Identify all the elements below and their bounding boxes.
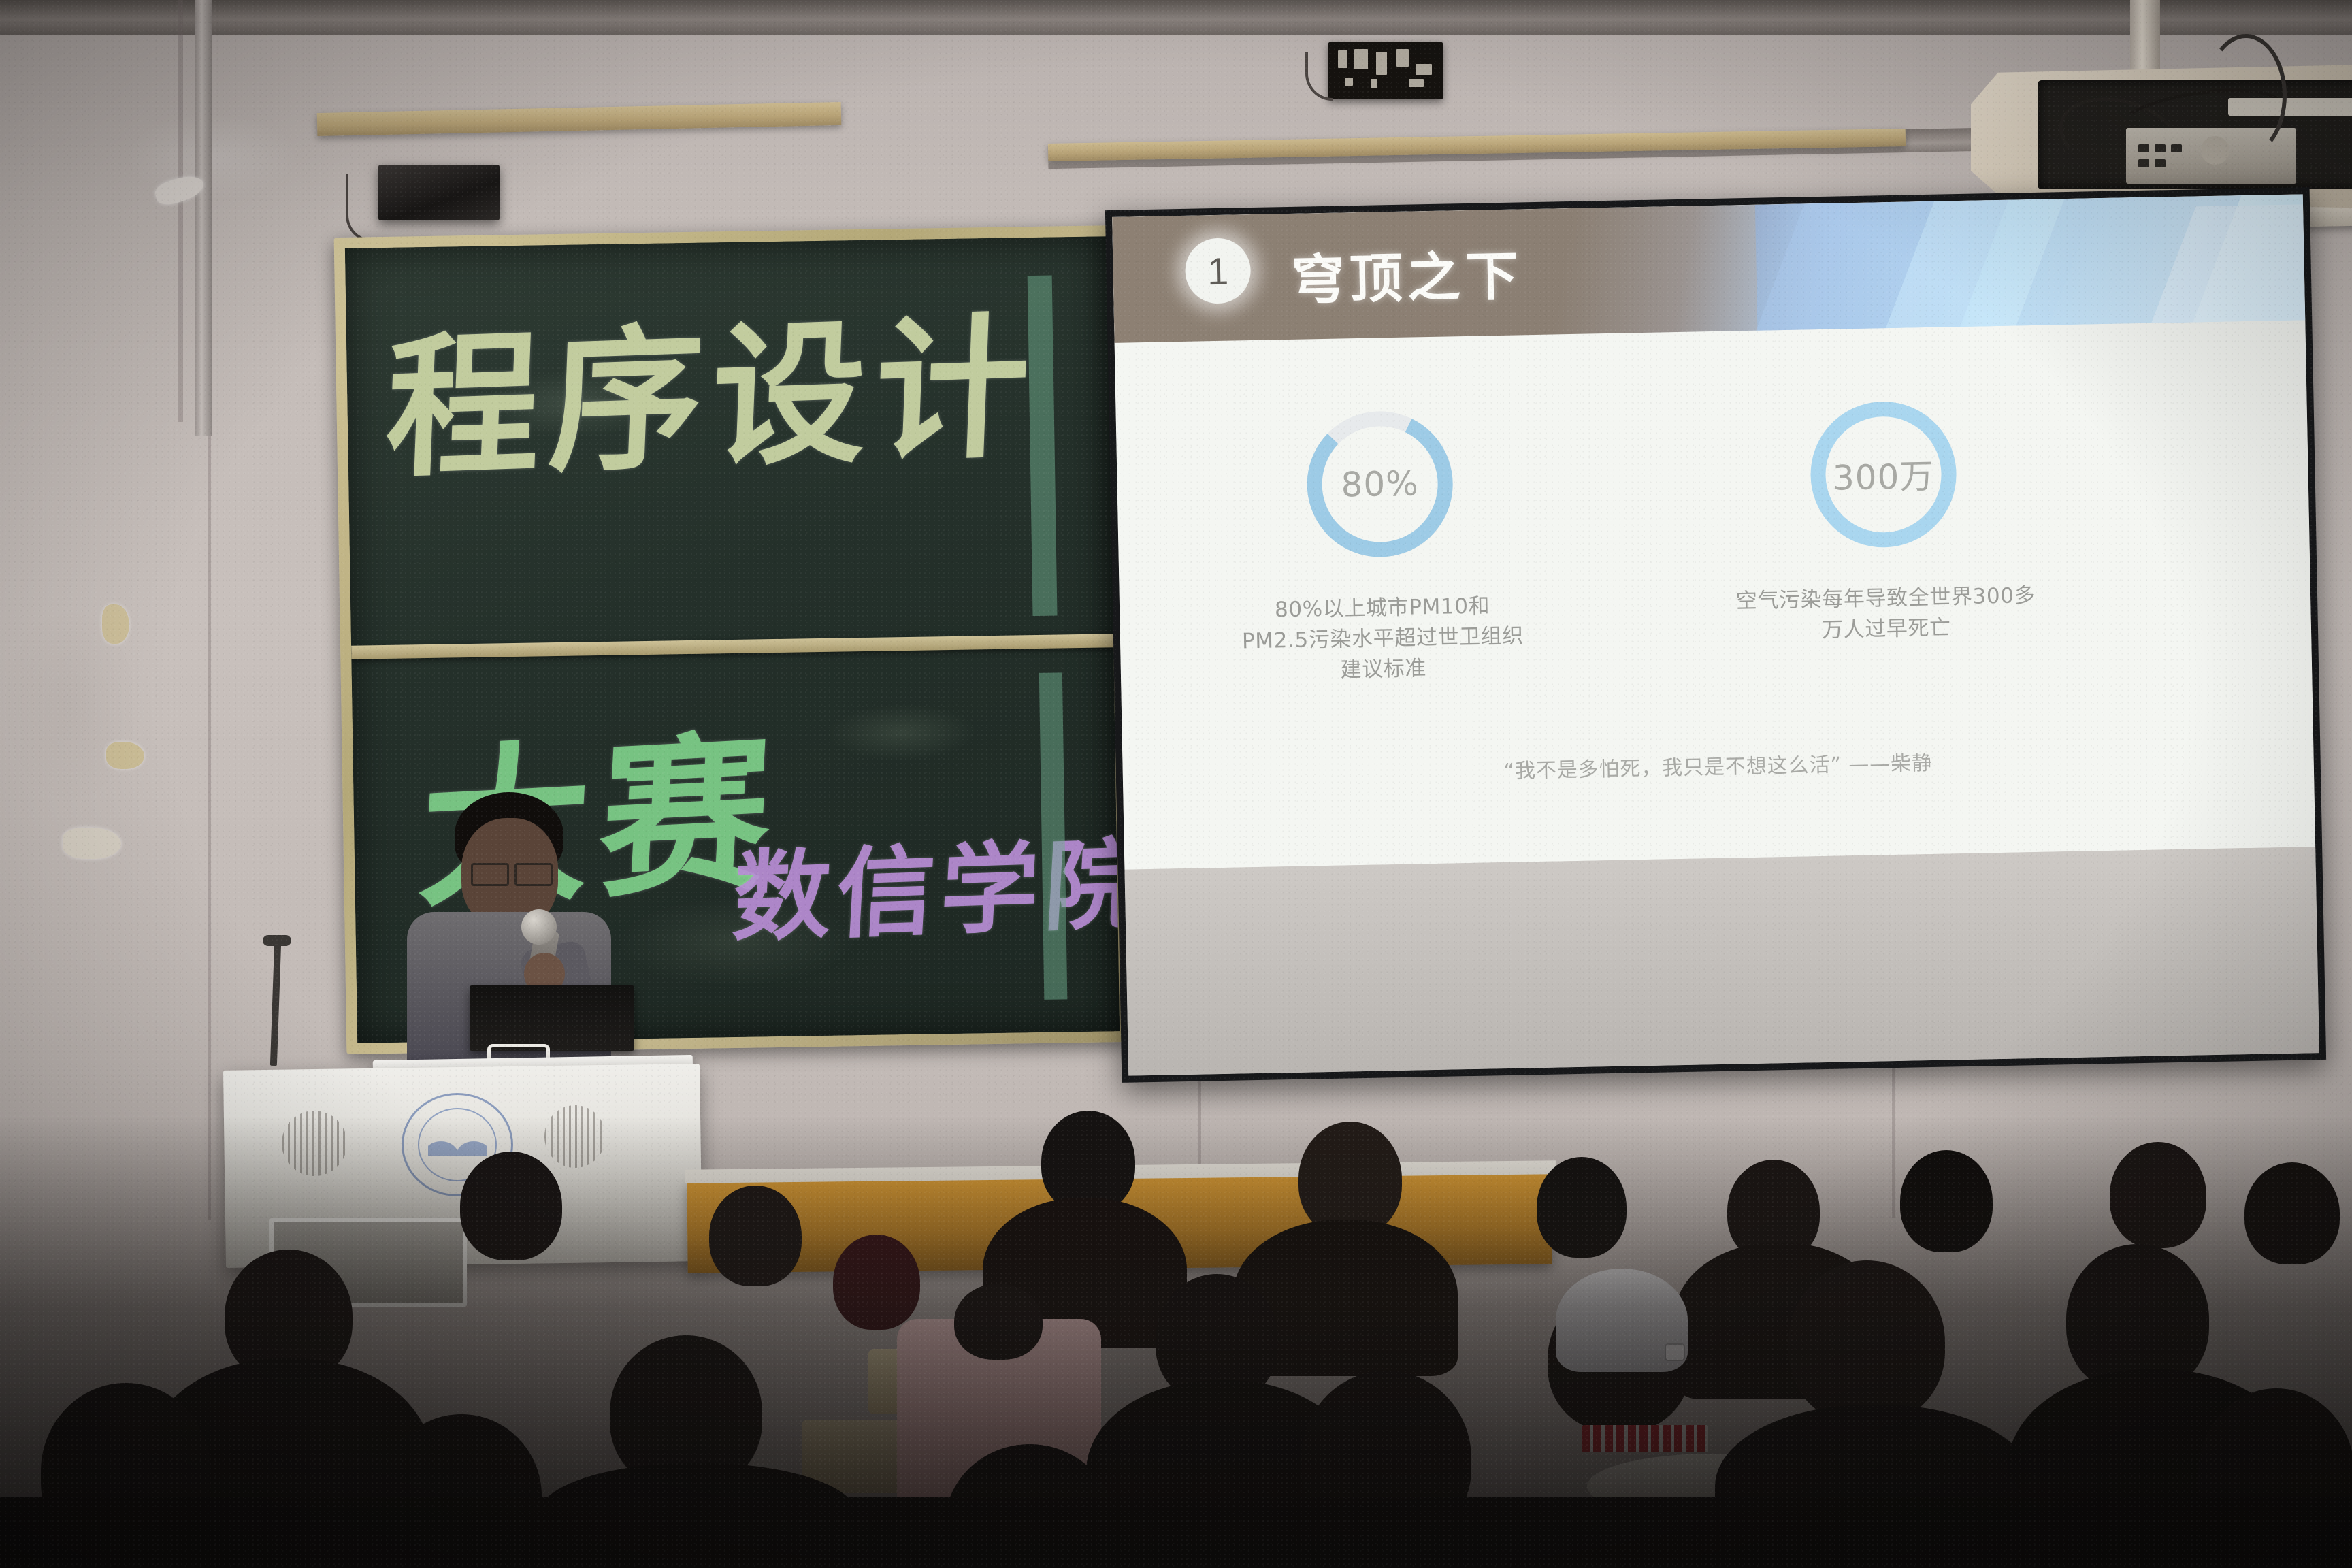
donut-value-1: 80% bbox=[1299, 404, 1460, 564]
donut-chart-2: 300万 bbox=[1803, 394, 1963, 555]
slide-title: 穹顶之下 bbox=[1291, 233, 1524, 314]
stat-caption-1: 80%以上城市PM10和 PM2.5污染水平超过世卫组织 建议标准 bbox=[1205, 589, 1561, 688]
stat-block-2: 300万 空气污染每年导致全世界300多 万人过早死亡 bbox=[1705, 392, 2063, 648]
paint-chip-2 bbox=[102, 604, 129, 644]
audience-striped-collar bbox=[1582, 1425, 1708, 1452]
presenter-glasses-right bbox=[514, 863, 553, 886]
donut-chart-1: 80% bbox=[1299, 404, 1460, 564]
audience-head bbox=[2244, 1162, 2340, 1264]
presenter-laptop bbox=[470, 985, 634, 1051]
presenter-glasses bbox=[471, 863, 509, 886]
audience-head bbox=[460, 1151, 562, 1260]
screen-lower-band bbox=[1124, 847, 2319, 1075]
audience-head bbox=[833, 1235, 920, 1330]
podium-vent-left bbox=[282, 1111, 347, 1176]
microphone-head bbox=[521, 909, 557, 945]
audience-head bbox=[1537, 1157, 1627, 1258]
projector-window bbox=[2038, 80, 2352, 189]
wall-pipe bbox=[195, 0, 212, 436]
slide-number-text: 1 bbox=[1207, 248, 1228, 293]
presentation-slide: 1 穹顶之下 80% 80%以上城市PM10和 PM2.5污染水平超过世卫组 bbox=[1112, 194, 2315, 870]
podium-seal-bird-icon bbox=[428, 1132, 487, 1156]
projector-hanging-cable bbox=[2205, 34, 2287, 157]
audience-head bbox=[2110, 1142, 2206, 1248]
blackboard-line-top: 程序设计 bbox=[382, 263, 1043, 507]
lecture-hall-photo: 程序设计 大赛 数信学院 1 bbox=[0, 0, 2352, 1568]
podium-vent-right bbox=[544, 1105, 606, 1168]
paint-chip-4 bbox=[63, 828, 121, 859]
audience-head bbox=[1900, 1150, 1993, 1252]
slide-quote: “我不是多怕死，我只是不想这么活” ——柴静 bbox=[1122, 738, 2314, 791]
wall-seam-lower2 bbox=[1892, 1062, 1895, 1218]
screen-surface: 1 穹顶之下 80% 80%以上城市PM10和 PM2.5污染水平超过世卫组 bbox=[1112, 194, 2319, 1075]
audience-head bbox=[954, 1284, 1043, 1360]
wall-speaker-cable bbox=[346, 174, 384, 242]
wall-seam-left bbox=[178, 0, 183, 422]
wall-speaker bbox=[378, 165, 500, 220]
projection-screen: 1 穹顶之下 80% 80%以上城市PM10和 PM2.5污染水平超过世卫组 bbox=[1105, 187, 2326, 1083]
audience-cap-strap bbox=[1666, 1345, 1684, 1360]
paint-chip-3 bbox=[106, 742, 144, 769]
audience-head bbox=[1788, 1260, 1945, 1424]
wall-control-panel bbox=[1328, 42, 1443, 99]
stat-block-1: 80% 80%以上城市PM10和 PM2.5污染水平超过世卫组织 建议标准 bbox=[1201, 402, 1561, 688]
projector-mount-pole bbox=[2130, 0, 2160, 71]
audience-head bbox=[709, 1186, 802, 1286]
audience-front-row-mass bbox=[0, 1497, 2352, 1568]
stat-caption-2: 空气污染每年导致全世界300多 万人过早死亡 bbox=[1709, 580, 2064, 648]
audience-head bbox=[1298, 1122, 1402, 1236]
ceiling-beam bbox=[0, 0, 2352, 35]
podium-mic-stand-head bbox=[263, 935, 291, 946]
donut-value-2: 300万 bbox=[1803, 394, 1963, 555]
